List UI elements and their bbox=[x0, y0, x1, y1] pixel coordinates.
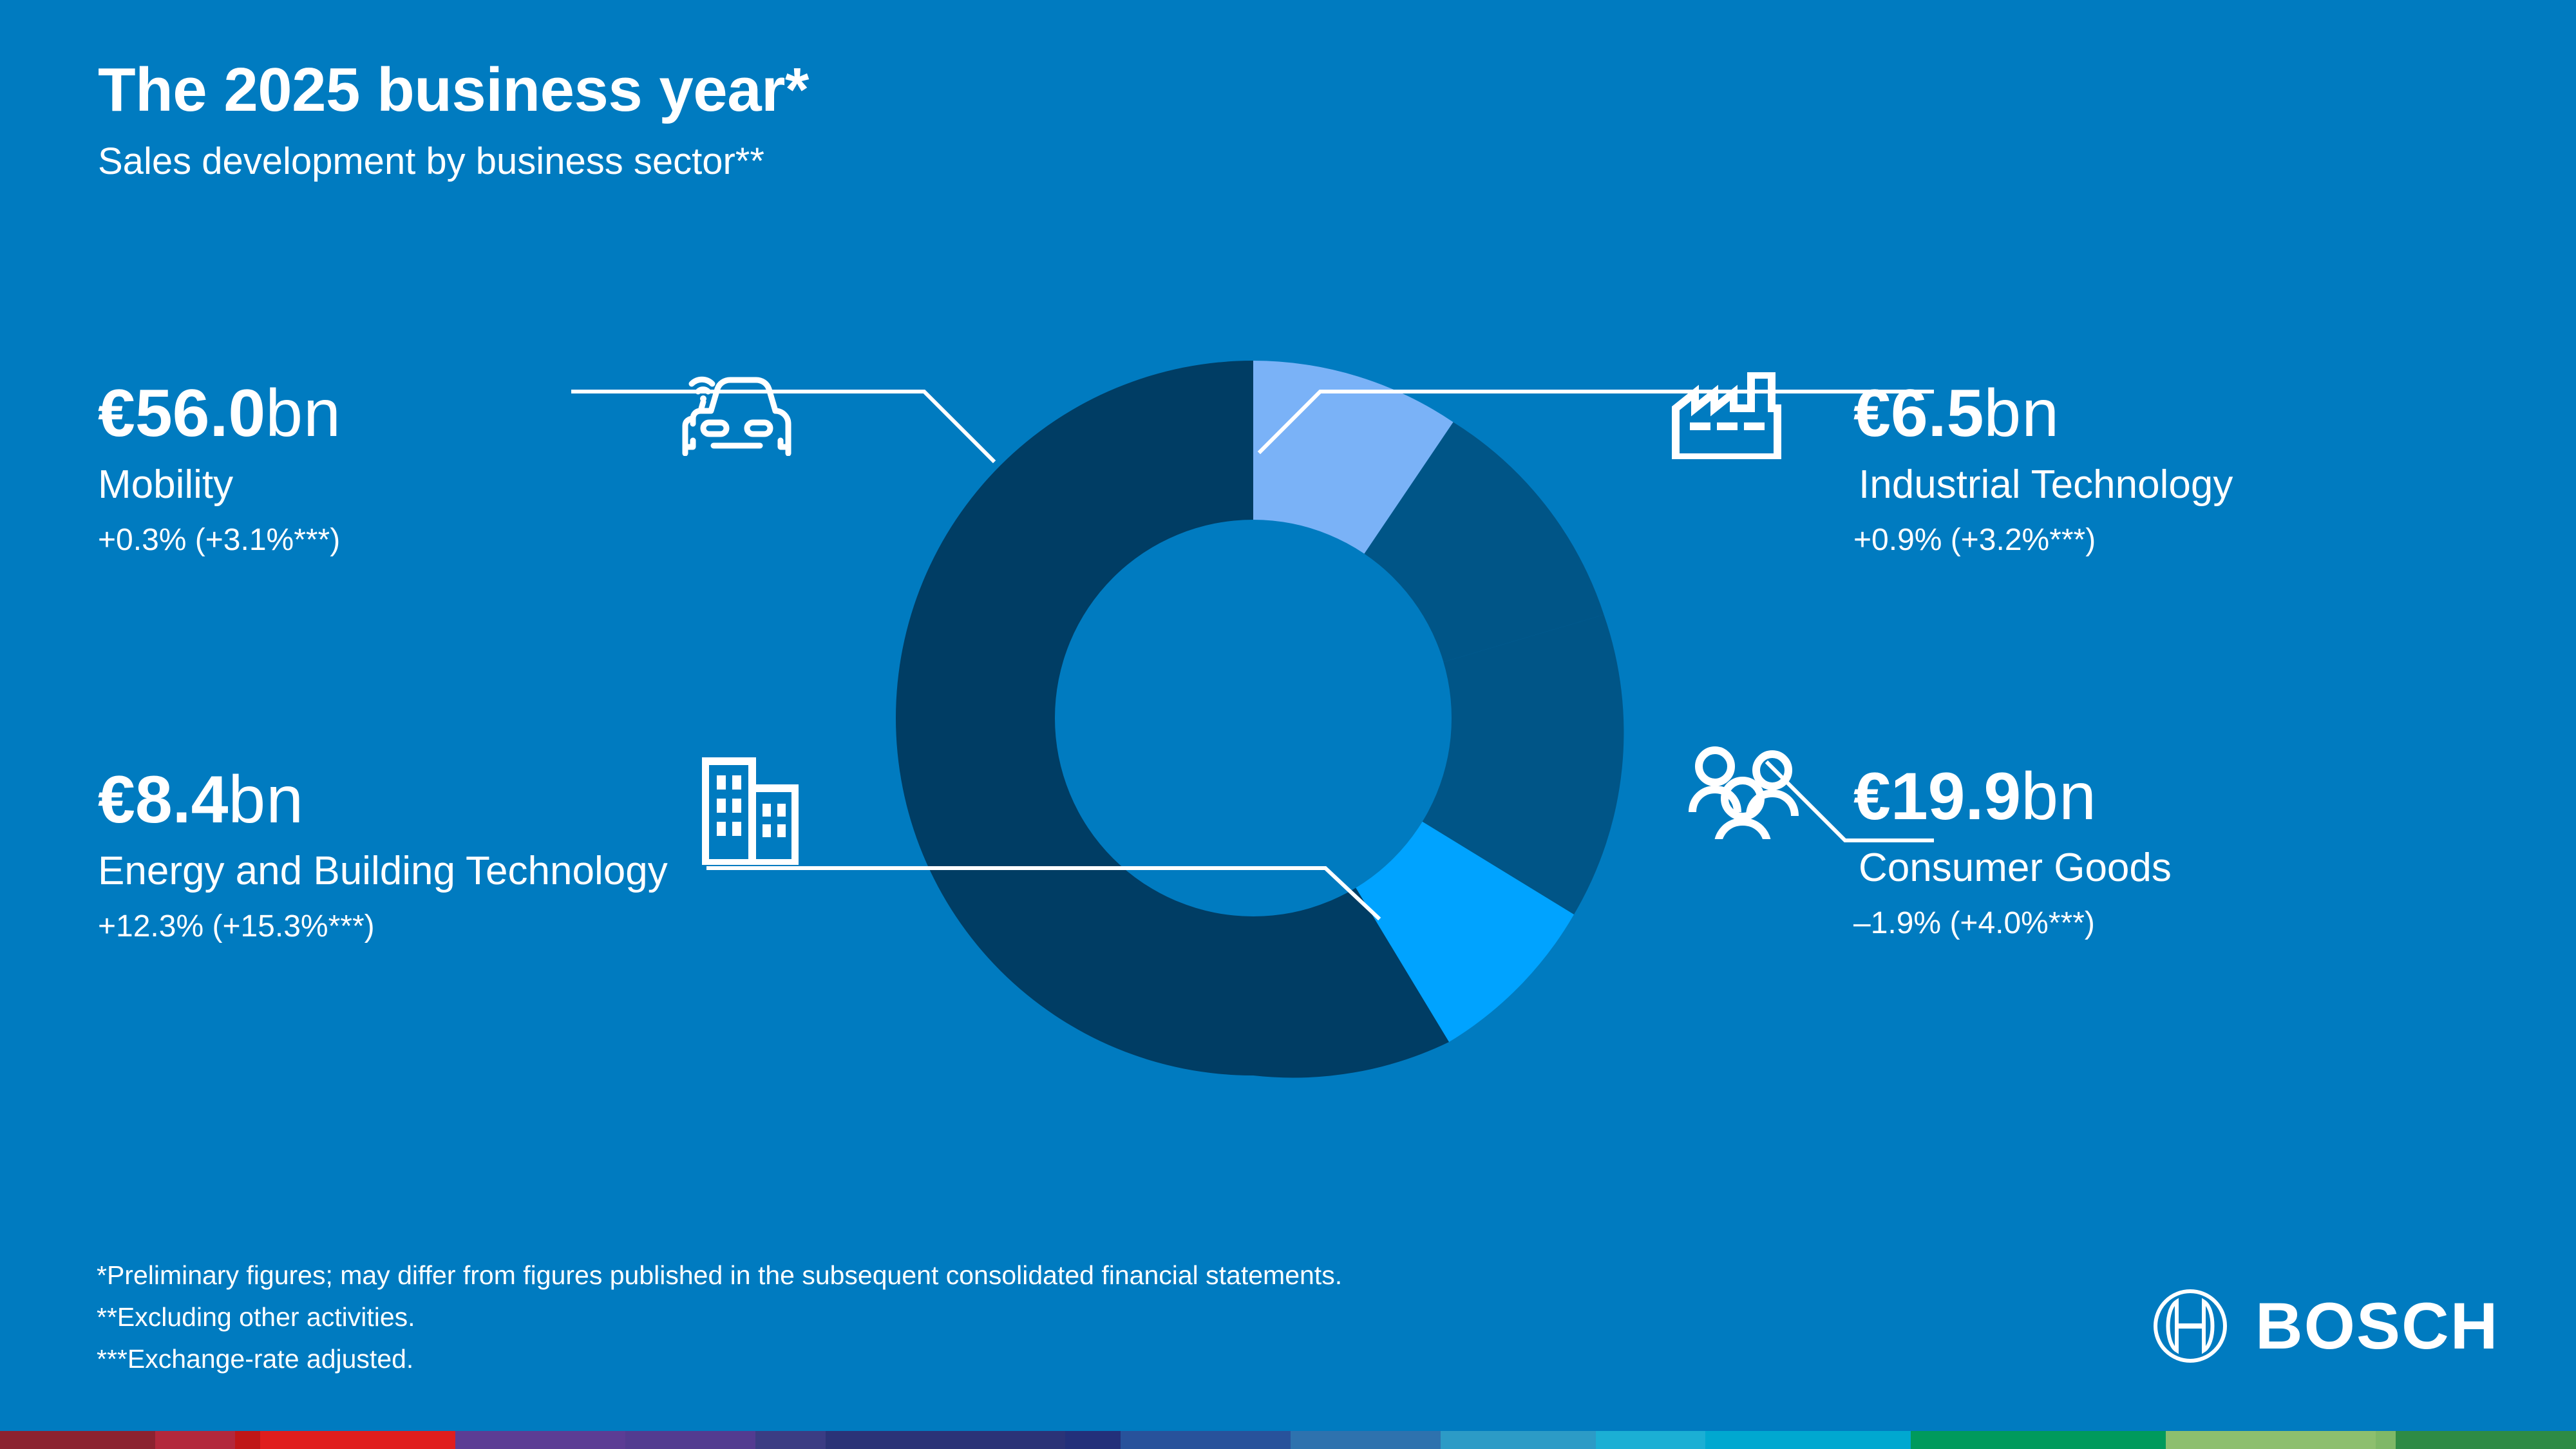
sector-name-energy-building: Energy and Building Technology bbox=[98, 850, 677, 893]
supergraphic-band bbox=[625, 1431, 755, 1449]
metric-industrial-technology: €6.5bn Industrial Technology +0.9% (+3.2… bbox=[1853, 380, 2497, 556]
footnote-line-2: **Excluding other activities. bbox=[97, 1296, 1342, 1338]
header: The 2025 business year* Sales developmen… bbox=[98, 59, 809, 180]
sector-change-consumer-goods: –1.9% (+4.0%***) bbox=[1853, 908, 2497, 939]
supergraphic-band bbox=[235, 1431, 260, 1449]
metric-value-industrial-technology: €6.5bn bbox=[1853, 380, 2497, 447]
bosch-supergraphic-bar bbox=[0, 1431, 2576, 1449]
donut-segments bbox=[896, 361, 1624, 1077]
sector-change-industrial-technology: +0.9% (+3.2%***) bbox=[1853, 525, 2497, 556]
supergraphic-band bbox=[1705, 1431, 1910, 1449]
donut-hole bbox=[1055, 520, 1452, 916]
connected-car-icon bbox=[677, 366, 793, 456]
supergraphic-band bbox=[260, 1431, 455, 1449]
supergraphic-band bbox=[2376, 1431, 2396, 1449]
sector-name-consumer-goods: Consumer Goods bbox=[1853, 847, 2497, 890]
metric-number: 19.9 bbox=[1891, 759, 2021, 834]
currency-symbol: € bbox=[98, 376, 135, 451]
metric-number: 8.4 bbox=[135, 762, 229, 837]
metric-unit: bn bbox=[1984, 376, 2060, 451]
bosch-wordmark: BOSCH bbox=[2255, 1293, 2499, 1359]
buildings-icon bbox=[702, 752, 799, 865]
supergraphic-band bbox=[2166, 1431, 2376, 1449]
metric-number: 6.5 bbox=[1891, 376, 1984, 451]
supergraphic-band bbox=[0, 1431, 155, 1449]
supergraphic-band bbox=[1121, 1431, 1291, 1449]
supergraphic-band bbox=[155, 1431, 235, 1449]
metric-unit: bn bbox=[228, 762, 304, 837]
supergraphic-band bbox=[755, 1431, 826, 1449]
metric-unit: bn bbox=[2021, 759, 2097, 834]
bosch-armature-icon bbox=[2152, 1288, 2228, 1364]
metric-unit: bn bbox=[265, 376, 341, 451]
supergraphic-band bbox=[2396, 1431, 2576, 1449]
currency-symbol: € bbox=[98, 762, 135, 837]
factory-icon bbox=[1671, 372, 1793, 459]
donut-chart bbox=[869, 361, 1642, 1101]
metric-consumer-goods: €19.9bn Consumer Goods –1.9% (+4.0%***) bbox=[1853, 763, 2497, 939]
supergraphic-band bbox=[1291, 1431, 1441, 1449]
supergraphic-band bbox=[1911, 1431, 2166, 1449]
metric-energy-building: €8.4bn Energy and Building Technology +1… bbox=[98, 766, 677, 942]
footnote-line-3: ***Exchange-rate adjusted. bbox=[97, 1338, 1342, 1380]
sector-change-energy-building: +12.3% (+15.3%***) bbox=[98, 911, 677, 942]
page-title: The 2025 business year* bbox=[98, 59, 809, 121]
supergraphic-band bbox=[1596, 1431, 1706, 1449]
infographic-canvas: The 2025 business year* Sales developmen… bbox=[0, 0, 2576, 1449]
page-subtitle: Sales development by business sector** bbox=[98, 143, 809, 180]
footnote-line-1: *Preliminary figures; may differ from fi… bbox=[97, 1255, 1342, 1296]
currency-symbol: € bbox=[1853, 759, 1891, 834]
sector-name-industrial-technology: Industrial Technology bbox=[1853, 464, 2497, 507]
sector-change-mobility: +0.3% (+3.1%***) bbox=[98, 525, 677, 556]
bosch-logo: BOSCH bbox=[2152, 1288, 2499, 1364]
supergraphic-band bbox=[826, 1431, 1066, 1449]
metric-value-consumer-goods: €19.9bn bbox=[1853, 763, 2497, 830]
people-group-icon bbox=[1687, 739, 1800, 839]
metric-value-energy-building: €8.4bn bbox=[98, 766, 677, 833]
metric-number: 56.0 bbox=[135, 376, 265, 451]
supergraphic-band bbox=[455, 1431, 625, 1449]
currency-symbol: € bbox=[1853, 376, 1891, 451]
metric-mobility: €56.0bn Mobility +0.3% (+3.1%***) bbox=[98, 380, 677, 556]
supergraphic-band bbox=[1065, 1431, 1120, 1449]
sector-name-mobility: Mobility bbox=[98, 464, 677, 507]
supergraphic-band bbox=[1441, 1431, 1596, 1449]
footnotes: *Preliminary figures; may differ from fi… bbox=[97, 1255, 1342, 1379]
